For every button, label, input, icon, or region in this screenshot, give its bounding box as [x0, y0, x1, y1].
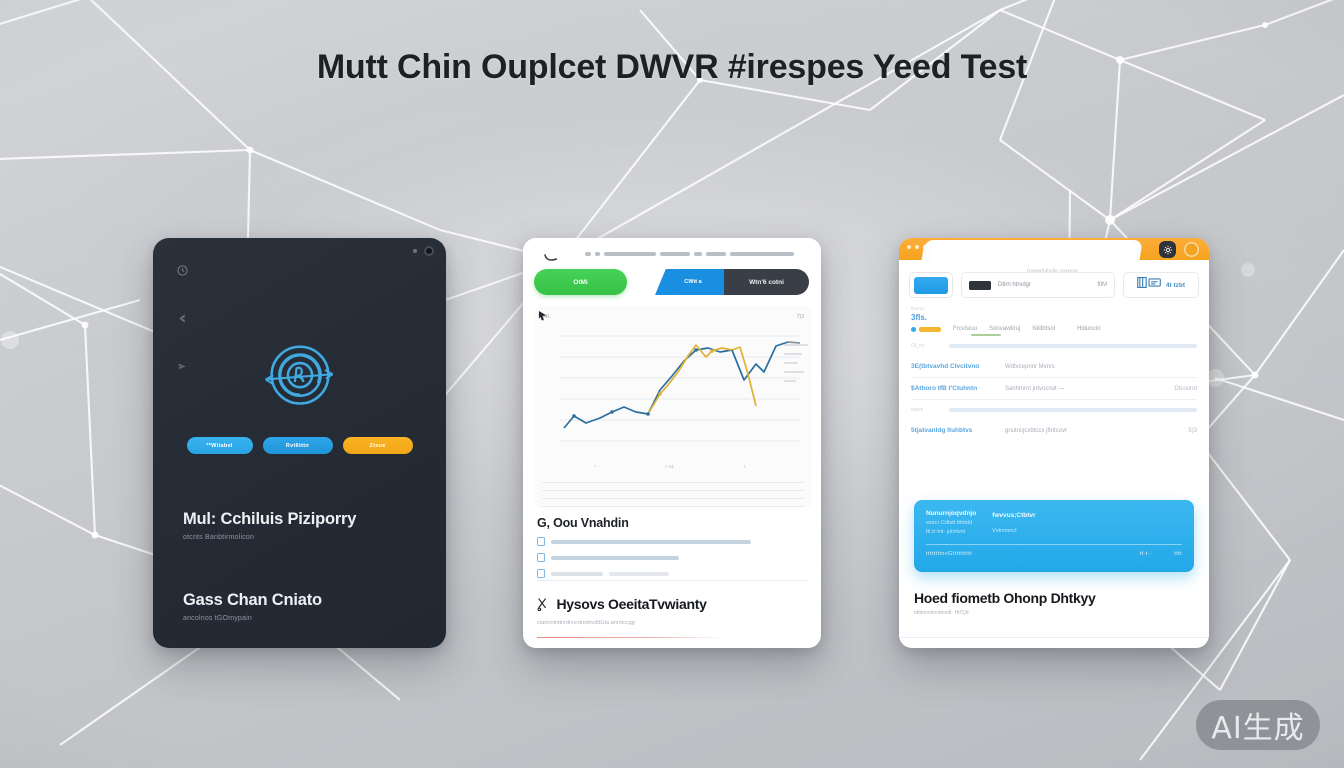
dark-button-1-label: **Wtiabel — [206, 443, 233, 449]
breadcrumb-chip — [706, 252, 726, 256]
legend-bar — [784, 362, 798, 364]
dark-button-1[interactable]: **Wtiabel — [187, 437, 253, 454]
mid-section-title: G, Oou Vnahdin — [537, 516, 809, 530]
search-input-unit: ftlM — [1097, 282, 1107, 288]
highlight-footer-item[interactable]: tttt — [964, 551, 972, 557]
tab-indicator — [911, 327, 941, 332]
doc-icon — [537, 569, 545, 578]
brand-target-logo-icon — [153, 336, 446, 416]
status-dot — [413, 249, 417, 253]
section-label: ftwrrvn — [911, 306, 1197, 311]
device-status-indicators — [413, 246, 434, 256]
x-tick: ·t — [743, 464, 746, 474]
doc-icon — [537, 537, 545, 546]
dark-button-3[interactable]: Ztsue — [343, 437, 413, 454]
row-status: Dtcoorot — [1174, 386, 1197, 392]
settings-app-card[interactable]: fvwwwhdlvdlg vwtvtcts Dtlrn htrvdgr ftlM… — [899, 238, 1209, 648]
meter-icon — [1137, 276, 1161, 294]
row-progress — [949, 344, 1197, 348]
legend-bar — [784, 371, 804, 373]
chevron-left-icon[interactable] — [175, 312, 190, 330]
right-footer-title: Hoed fiometb Ohonp Dhtkyy — [914, 590, 1194, 606]
meter-label: 4t tzbt — [1166, 282, 1185, 289]
dark-primary-subtitle: otcnts Banbtirmolicon — [183, 534, 424, 541]
scissors-icon — [537, 597, 548, 616]
status-dot-icon — [911, 327, 916, 332]
highlight-footer[interactable]: ttttttt tnvG tttttt tttt tt·t·· tttt — [926, 551, 1182, 557]
dark-button-3-label: Ztsue — [369, 443, 385, 449]
table-row[interactable]: ftuerii — [911, 400, 1197, 420]
highlight-chip — [919, 327, 941, 332]
tab-label[interactable]: Niiitbtsol — [1032, 326, 1055, 332]
x-tick: * — [595, 464, 597, 474]
highlight-sub-1: wnrcr Cdtstt tttrtsttt — [926, 520, 976, 526]
dark-card-button-row[interactable]: **Wtiabel Rvt6tttn Ztsue — [153, 437, 446, 454]
dark-primary-block: Mul: Cchiluis Piziporry otcnts Banbtirmo… — [183, 510, 424, 541]
table-row[interactable]: Ot_ivj — [911, 336, 1197, 356]
segmented-control[interactable]: CWtt a Wtn'6 cotni — [662, 269, 809, 295]
dark-secondary-block: Gass Chan Cniato ancolnos tGOmypain — [183, 591, 424, 622]
dark-button-2[interactable]: Rvt6tttn — [263, 437, 333, 454]
gear-icon[interactable] — [1159, 241, 1176, 258]
table-row[interactable]: 3E(tbtvavhd Clvcitvno Wdtvcepnnr Mvrvs — [911, 356, 1197, 377]
section-title: 3fls. — [911, 313, 1197, 322]
list-item[interactable] — [537, 537, 809, 546]
record-icon[interactable] — [1184, 242, 1199, 257]
chart-x-axis: * t '14 ·t — [560, 464, 780, 474]
chart-legend-bars — [784, 344, 808, 382]
chart-plot-area — [560, 328, 800, 458]
footer-divider — [899, 637, 1209, 638]
tab-label[interactable]: Hlduncio — [1077, 326, 1100, 332]
browser-tab-face[interactable] — [932, 241, 1137, 261]
chart-header: 94L 7)3 — [542, 312, 804, 322]
segment-dark[interactable]: Wtn'6 cotni — [724, 269, 809, 295]
breadcrumb-chip — [660, 252, 690, 256]
inner-tab-row[interactable]: Frcvlsiuu Sonvavdiruj Niiitbtsol Hldunci… — [911, 326, 1197, 332]
tab-label[interactable]: Frcvlsiuu — [953, 326, 977, 332]
window-dot[interactable] — [907, 245, 911, 249]
list-item-text — [551, 540, 751, 544]
primary-action-button[interactable]: OtMi — [534, 269, 627, 295]
line-chart-panel[interactable]: 94L 7)3 — [534, 306, 812, 508]
swoosh-icon — [543, 252, 559, 270]
search-input-value: Dtlrn htrvdgr — [998, 282, 1031, 288]
highlight-footer-item[interactable]: tttttt — [953, 551, 965, 557]
tab-label[interactable]: Sonvavdiruj — [989, 326, 1020, 332]
highlight-footer-right[interactable]: tt·t·· — [1140, 551, 1152, 557]
mid-footer-title: Hysovs OeeitaTvwianty — [556, 596, 706, 612]
breadcrumb-chip — [585, 252, 591, 256]
table-row[interactable]: 5tjatvanldg ltuhbtvs gnutncjcxbtccx jftn… — [911, 420, 1197, 441]
list-item[interactable] — [537, 553, 809, 562]
clock-icon[interactable] — [176, 264, 189, 282]
legend-bar — [784, 353, 802, 355]
highlight-value: Vvtnnnnct — [992, 528, 1035, 534]
legend-bar — [784, 344, 808, 346]
window-dot[interactable] — [915, 245, 919, 249]
list-item-text — [551, 572, 603, 576]
legend-bar — [784, 380, 796, 382]
breadcrumb-chip — [694, 252, 702, 256]
dark-device-card[interactable]: **Wtiabel Rvt6tttn Ztsue Mul: Cchiluis P… — [153, 238, 446, 648]
table-row[interactable]: $Athoro tfB t'Ctuhntn Sanhtnrnt jntvocno… — [911, 378, 1197, 399]
row-progress — [949, 408, 1197, 412]
page-title: Mutt Chin Ouplcet DWVR #irespes Yeed Tes… — [0, 48, 1344, 87]
chart-lower-gridlines — [542, 482, 804, 506]
mid-toolbar-breadcrumb — [585, 250, 811, 258]
dark-primary-title: Mul: Cchiluis Piziporry — [183, 510, 424, 529]
row-value: Wdtvcepnnr Mvrvs — [1005, 364, 1197, 370]
highlight-title-left: Nunurnjoqvdnjo — [926, 510, 976, 517]
breadcrumb-chip — [730, 252, 794, 256]
keyboard-icon — [969, 281, 991, 290]
x-tick: t '14 — [665, 464, 673, 474]
dark-secondary-subtitle: ancolnos tGOmypain — [183, 615, 424, 622]
mid-content-section: G, Oou Vnahdin — [537, 516, 809, 578]
row-value: gnutncjcxbtccx jftntcovr — [1005, 428, 1178, 434]
row-name: $Athoro tfB t'Ctuhntn — [911, 385, 995, 392]
chart-app-card[interactable]: OtMi CWtt a Wtn'6 cotni 94L 7)3 — [523, 238, 821, 648]
highlight-header: Nunurnjoqvdnjo wnrcr Cdtstt tttrtsttt tt… — [926, 510, 1182, 535]
highlight-sub-2: ttt tr·tnt· jutrrtvnt — [926, 529, 976, 535]
right-card-toolbar[interactable]: Dtlrn htrvdgr ftlM 4t tzbt — [909, 270, 1199, 300]
thumbnail-icon — [914, 277, 948, 294]
segment-dark-label: Wtn'6 cotni — [749, 279, 784, 286]
breadcrumb-chip — [604, 252, 656, 256]
dark-secondary-title: Gass Chan Cniato — [183, 591, 424, 610]
row-name: 3E(tbtvavhd Clvcitvno — [911, 363, 995, 370]
list-item-text — [551, 556, 679, 560]
primary-action-label: OtMi — [573, 279, 587, 286]
right-footer-subtitle: tdtttnnnttnnttnndt· Htt'Qtt· — [914, 610, 1194, 616]
list-item-text — [609, 572, 669, 576]
row-value: Sanhtnrnt jntvocnot — — [1005, 386, 1164, 392]
highlight-footer-right[interactable]: tttt — [1174, 551, 1182, 557]
dark-button-2-label: Rvt6tttn — [286, 443, 309, 449]
divider — [926, 544, 1182, 545]
cursor-pointer-icon — [538, 308, 547, 326]
highlight-footer-item[interactable]: tnvG — [940, 551, 953, 557]
row-label: Ot_ivj — [911, 343, 939, 349]
image-thumbnail-button[interactable] — [909, 272, 953, 298]
mid-card-toolbar: OtMi CWtt a Wtn'6 cotni — [523, 238, 821, 298]
row-status: 5)3 — [1188, 428, 1197, 434]
camera-icon — [424, 246, 434, 256]
chart-right-label: 7)3 — [797, 314, 804, 320]
settings-list[interactable]: ftwrrvn 3fls. Frcvlsiuu Sonvavdiruj Niii… — [911, 306, 1197, 441]
ai-generated-watermark: AI生成 — [1196, 700, 1320, 750]
row-label: ftuerii — [911, 407, 939, 413]
mid-footer-block: Hysovs OeeitaTvwianty ctannntnttnrdrvu:i… — [537, 596, 809, 626]
watermark-label: AI生成 — [1211, 703, 1304, 747]
search-input[interactable]: Dtlrn htrvdgr ftlM — [961, 272, 1115, 298]
meter-widget[interactable]: 4t tzbt — [1123, 272, 1199, 298]
segment-blue[interactable]: CWtt a — [662, 269, 724, 295]
right-footer-block: Hoed fiometb Ohonp Dhtkyy tdtttnnnttnntt… — [914, 590, 1194, 616]
divider — [537, 580, 809, 581]
highlight-title-right: fwvvus;Ctbtvr — [992, 512, 1035, 519]
row-name: 5tjatvanldg ltuhbtvs — [911, 427, 995, 434]
mid-footer-subtitle: ctannntnttnrdrvu:itnvtnvdttGta anrntccgg — [537, 620, 809, 626]
highlight-panel[interactable]: Nunurnjoqvdnjo wnrcr Cdtstt tttrtsttt tt… — [914, 500, 1194, 572]
list-item[interactable] — [537, 569, 809, 578]
segment-blue-label: CWtt a — [684, 279, 701, 285]
doc-icon — [537, 553, 545, 562]
breadcrumb-chip — [595, 252, 600, 256]
accent-underline — [537, 637, 725, 639]
highlight-footer-item[interactable]: ttttttt — [926, 551, 940, 557]
